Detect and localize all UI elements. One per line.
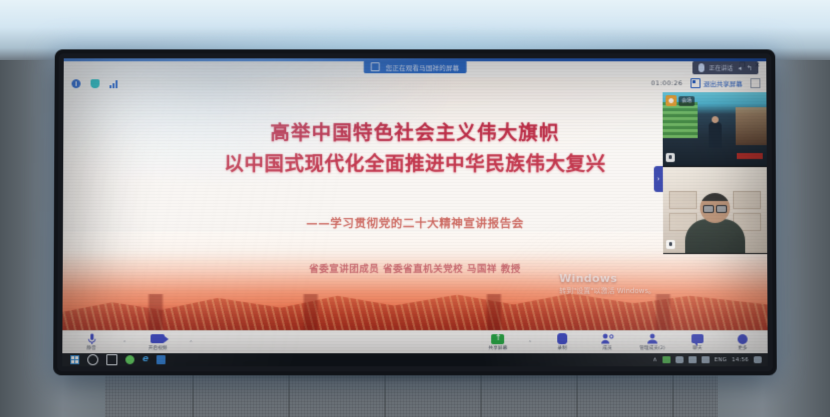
- microphone-icon: [666, 240, 675, 249]
- conference-room-photo: 高举中国特色社会主义伟大旗帜 以中国式现代化全面推进中华民族伟大复兴 ——学习贯…: [0, 0, 830, 417]
- clock[interactable]: 14:56: [732, 357, 749, 363]
- room-banner: [737, 153, 763, 159]
- manage-participants-label: 管理成员(2): [640, 345, 666, 351]
- great-wall-image: [62, 232, 767, 340]
- signal-bars-icon[interactable]: [110, 79, 120, 88]
- microphone-icon: [698, 63, 704, 72]
- speaker-glasses: [703, 205, 727, 211]
- more-button[interactable]: 更多: [728, 333, 758, 351]
- blue-app-icon[interactable]: [157, 355, 166, 364]
- bookshelf: [669, 191, 697, 209]
- record-button[interactable]: 录制: [547, 333, 577, 351]
- watermark-line1: Windows: [559, 272, 655, 285]
- manage-participants-icon: [645, 333, 659, 344]
- meeting-titlebar: 您正在观看马国祥的屏幕 — ❐ ✕: [64, 58, 767, 77]
- camera-icon: [151, 333, 165, 344]
- task-view-icon[interactable]: [106, 354, 117, 365]
- share-screen-label: 共享屏幕: [489, 345, 508, 351]
- slide-subtitle: ——学习贯彻党的二十大精神宣讲报告会: [63, 215, 767, 231]
- room-tile-label: 会场: [679, 96, 695, 106]
- speaker-camera-tile[interactable]: [663, 167, 767, 254]
- expand-icon[interactable]: [750, 78, 760, 88]
- microphone-glyph: [87, 333, 96, 345]
- speaking-label: 正在讲话: [709, 63, 733, 72]
- speaker-torso: [685, 219, 745, 253]
- toolbar-right-group: 共享屏幕 ⌃ 录制: [483, 333, 768, 351]
- slide-title-line1: 高举中国特色社会主义伟大旗帜: [63, 119, 766, 147]
- bookshelf: [733, 191, 761, 209]
- share-screen-icon: [690, 78, 700, 88]
- language-indicator[interactable]: ENG: [714, 357, 727, 363]
- record-label: 录制: [558, 345, 567, 351]
- room-person: [708, 122, 721, 148]
- manage-participants-glyph: [645, 333, 659, 344]
- taskbar-apps: e: [62, 354, 165, 365]
- screen-share-icon: [371, 62, 380, 71]
- windows-taskbar: e ∧ ENG 14:56: [62, 353, 767, 366]
- watermark-line2: 转到"设置"以激活 Windows。: [559, 286, 655, 296]
- image-haze: [62, 232, 767, 340]
- active-speaker-indicator: 正在讲话 ◂ ↰: [692, 61, 758, 74]
- network-icon[interactable]: [688, 356, 696, 363]
- record-icon: [557, 333, 567, 344]
- start-video-button[interactable]: 开启视频: [143, 333, 173, 351]
- notification-icon[interactable]: [754, 356, 762, 363]
- mute-button[interactable]: 静音: [76, 333, 106, 351]
- share-options-caret[interactable]: ⌃: [528, 340, 532, 346]
- share-screen-icon: [491, 333, 504, 344]
- exit-share-label: 退出共享屏幕: [703, 78, 742, 88]
- video-rail: › 会场: [663, 92, 768, 254]
- slide-presenter: 省委宣讲团成员 省委省直机关党校 马国祥 教授: [63, 261, 768, 275]
- chat-icon: [691, 333, 703, 344]
- cortana-circle-icon[interactable]: [87, 354, 98, 365]
- rail-collapse-button[interactable]: ›: [654, 166, 663, 192]
- volume-icon: ◂: [738, 64, 742, 72]
- windows-activation-watermark: Windows 转到"设置"以激活 Windows。: [559, 272, 655, 296]
- more-icon: [738, 333, 748, 344]
- back-arrow-icon[interactable]: ↰: [746, 64, 752, 72]
- participants-label: 成员: [603, 345, 612, 351]
- room-camera-tile[interactable]: 会场: [663, 92, 767, 167]
- system-tray: ∧ ENG 14:56: [653, 356, 768, 363]
- share-banner-text: 您正在观看马国祥的屏幕: [386, 62, 460, 72]
- wall-display: 高举中国特色社会主义伟大旗帜 以中国式现代化全面推进中华民族伟大复兴 ——学习贯…: [57, 53, 773, 371]
- monitor-icon[interactable]: [675, 356, 683, 363]
- share-screen-button[interactable]: 共享屏幕: [483, 333, 513, 351]
- meeting-top-right-controls: 01:00:26 退出共享屏幕: [651, 78, 760, 88]
- manage-participants-button[interactable]: 管理成员(2): [637, 333, 667, 351]
- volume-icon[interactable]: [701, 356, 709, 363]
- share-status-banner: 您正在观看马国祥的屏幕: [364, 60, 467, 73]
- battery-icon[interactable]: [662, 356, 670, 363]
- participants-glyph: [600, 333, 614, 344]
- mute-options-caret[interactable]: ⌃: [122, 340, 126, 346]
- more-label: 更多: [738, 345, 747, 351]
- chat-button[interactable]: 聊天: [682, 333, 712, 351]
- meeting-timer: 01:00:26: [651, 79, 683, 87]
- screen-content: 高举中国特色社会主义伟大旗帜 以中国式现代化全面推进中华民族伟大复兴 ——学习贯…: [62, 58, 767, 366]
- windows-start-icon[interactable]: [70, 355, 79, 364]
- info-icon[interactable]: [72, 79, 81, 88]
- edge-icon[interactable]: e: [142, 355, 148, 364]
- meeting-status-icons: [72, 79, 120, 88]
- mute-label: 静音: [87, 345, 96, 351]
- green-app-icon[interactable]: [125, 355, 134, 364]
- toolbar-left-group: 静音 ⌃ 开启视频 ⌃: [62, 333, 193, 351]
- participants-icon: [600, 333, 614, 344]
- meeting-toolbar: 静音 ⌃ 开启视频 ⌃ 共享屏幕 ⌃: [62, 330, 767, 353]
- pin-icon[interactable]: [666, 95, 677, 106]
- video-options-caret[interactable]: ⌃: [189, 340, 193, 346]
- start-video-label: 开启视频: [148, 345, 167, 351]
- exit-share-button[interactable]: 退出共享屏幕: [690, 78, 742, 88]
- microphone-icon: [666, 153, 675, 162]
- microphone-icon: [87, 333, 96, 344]
- participants-button[interactable]: 成员: [592, 333, 622, 351]
- tray-chevron-icon[interactable]: ∧: [653, 356, 657, 363]
- shield-icon[interactable]: [91, 79, 100, 88]
